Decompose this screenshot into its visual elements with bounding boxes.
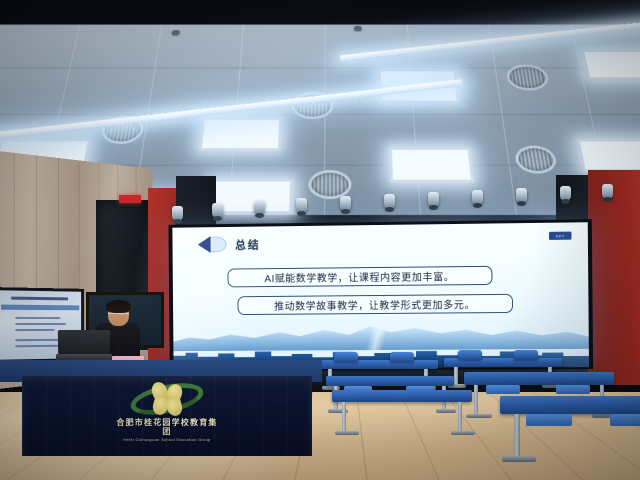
chair-back bbox=[334, 352, 358, 362]
ceiling-spotlight-icon bbox=[212, 203, 223, 218]
desk-foot bbox=[436, 409, 456, 413]
red-wall-panel-right bbox=[588, 170, 640, 385]
smoke-detector-icon bbox=[172, 30, 180, 35]
desk-leg bbox=[458, 402, 462, 432]
glasses-icon bbox=[108, 313, 129, 317]
desk-top bbox=[332, 390, 472, 402]
flower-ring-logo-icon bbox=[130, 382, 204, 416]
monitor-text-line bbox=[15, 317, 60, 319]
ceiling-panel-light bbox=[577, 139, 640, 172]
chair-back bbox=[514, 350, 538, 360]
monitor-text-line bbox=[15, 345, 58, 347]
ceiling-panel-light bbox=[389, 147, 475, 182]
monitor-text-line bbox=[15, 339, 64, 341]
chair-seat bbox=[526, 414, 572, 426]
slide-header: 总结 bbox=[194, 234, 261, 254]
desk-top bbox=[464, 372, 614, 385]
ceiling-spotlight-icon bbox=[560, 186, 571, 201]
chevron-left-icon bbox=[194, 235, 227, 254]
ceiling-panel-light bbox=[199, 117, 282, 150]
led-presentation-screen[interactable]: 总结 PPT AI赋能数学教学，让课程内容更加丰富。 推动数学故事教学，让教学形… bbox=[168, 219, 593, 371]
slide-canvas: 总结 PPT AI赋能数学教学，让课程内容更加丰富。 推动数学故事教学，让教学形… bbox=[172, 222, 589, 369]
ceiling-spotlight-icon bbox=[296, 198, 307, 213]
chair-back bbox=[390, 352, 414, 362]
slide-bullet-box: 推动数学故事教学，让教学形式更加多元。 bbox=[237, 294, 513, 315]
laptop-screen[interactable] bbox=[58, 330, 110, 356]
ceiling-spotlight-icon bbox=[428, 192, 439, 207]
slide-bullet-box: AI赋能数学教学，让课程内容更加丰富。 bbox=[227, 266, 492, 288]
exit-sign-icon bbox=[119, 195, 141, 203]
chair-seat bbox=[486, 385, 520, 394]
ceiling-air-vent bbox=[308, 170, 351, 199]
desk-top bbox=[500, 396, 640, 414]
monitor-text-line bbox=[15, 323, 66, 325]
monitor-title-line bbox=[11, 297, 68, 301]
desk-leg bbox=[474, 385, 478, 415]
mountain-illustration bbox=[173, 314, 589, 351]
presenter-hair bbox=[106, 300, 131, 313]
desk-foot bbox=[466, 414, 492, 418]
table-skirt-banner: 合肥市桂花园学校教育集团 Hefei Guihuayuan School Edu… bbox=[22, 376, 312, 456]
desk-leg bbox=[454, 367, 458, 385]
desk-leg bbox=[514, 414, 520, 458]
monitor-heading-bar bbox=[1, 305, 79, 311]
slide-corner-badge: PPT bbox=[549, 232, 572, 240]
school-name-cn: 合肥市桂花园学校教育集团 bbox=[112, 419, 222, 437]
ceiling-spotlight-icon bbox=[472, 190, 483, 205]
ceiling-spotlight-icon bbox=[340, 196, 351, 211]
chair-back bbox=[458, 350, 482, 360]
desk-leg bbox=[342, 402, 346, 432]
ceiling-spotlight-icon bbox=[384, 194, 395, 209]
ceiling-panel-light bbox=[581, 50, 640, 80]
chair-seat bbox=[556, 385, 590, 394]
desk-foot bbox=[335, 431, 359, 435]
chair-seat bbox=[610, 414, 640, 426]
ceiling-spotlight-icon bbox=[602, 184, 613, 199]
ceiling-spotlight-icon bbox=[172, 206, 183, 221]
ceiling-spotlight-icon bbox=[254, 200, 265, 215]
desk-foot bbox=[502, 456, 536, 462]
smoke-detector-icon bbox=[354, 26, 362, 31]
lecture-hall-scene: 总结 PPT AI赋能数学教学，让课程内容更加丰富。 推动数学故事教学，让教学形… bbox=[0, 0, 640, 480]
school-logo-block: 合肥市桂花园学校教育集团 Hefei Guihuayuan School Edu… bbox=[112, 382, 222, 442]
monitor-text-line bbox=[15, 329, 54, 331]
desk-foot bbox=[451, 431, 475, 435]
slide-title: 总结 bbox=[235, 236, 261, 252]
school-name-en: Hefei Guihuayuan School Education Group bbox=[109, 437, 226, 441]
ceiling-spotlight-icon bbox=[516, 188, 527, 203]
desk-top bbox=[326, 376, 454, 386]
